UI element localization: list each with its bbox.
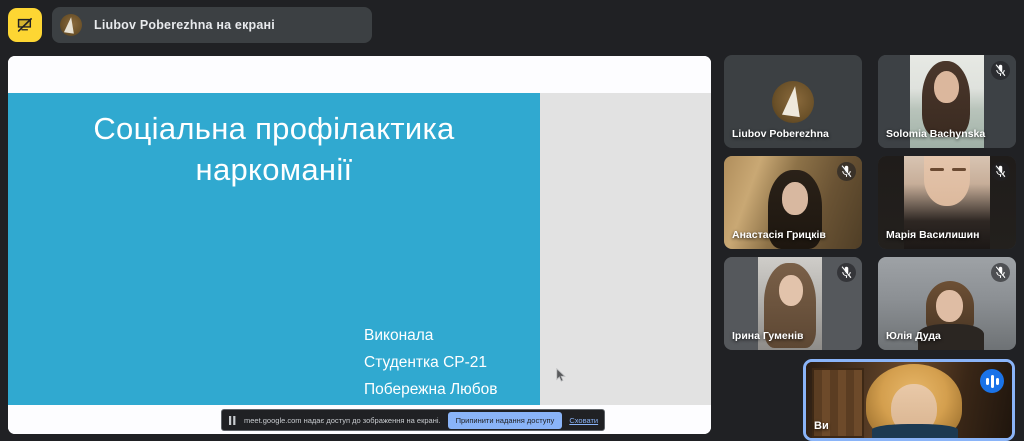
mic-off-icon [837, 263, 856, 282]
slide-credit-line: Побережна Любов [364, 377, 498, 404]
mic-off-icon [991, 263, 1010, 282]
participant-tile-solomia-bachynska[interactable]: Solomia Bachynska [878, 55, 1016, 148]
mic-off-icon [991, 162, 1010, 181]
participant-tile-iryna-humeniv[interactable]: Ірина Гуменів [724, 257, 862, 350]
participant-name: Ірина Гуменів [732, 330, 803, 342]
avatar [772, 81, 814, 123]
stop-sharing-button[interactable]: Припинити надання доступу [448, 412, 563, 429]
mouse-cursor-icon [556, 368, 567, 382]
presenter-label: Liubov Poberezhna на екрані [94, 18, 275, 32]
hide-notification-link[interactable]: Сховати [569, 416, 598, 425]
slide-title: Соціальна профілактика наркоманії [8, 108, 540, 190]
share-notice-message: meet.google.com надає доступ до зображен… [244, 416, 441, 425]
screen-share-notification-bar: meet.google.com надає доступ до зображен… [221, 409, 605, 431]
self-view-tile[interactable]: Ви [803, 359, 1015, 441]
presenter-avatar [60, 14, 82, 36]
participant-name: Liubov Poberezhna [732, 128, 829, 140]
top-bar: Liubov Poberezhna на екрані [0, 0, 1024, 50]
participant-tile-yuliia-duda[interactable]: Юлія Дуда [878, 257, 1016, 350]
participant-tile-anastasiia-hrytskiv[interactable]: Анастасія Грицків [724, 156, 862, 249]
participant-tile-liubov-poberezhna[interactable]: Liubov Poberezhna [724, 55, 862, 148]
participant-grid: Liubov Poberezhna Solomia Bachynska [724, 55, 1016, 346]
participant-name: Анастасія Грицків [732, 229, 826, 241]
stop-screen-share-icon [16, 16, 35, 35]
pause-icon [228, 415, 237, 425]
stop-screen-share-button[interactable] [8, 8, 42, 42]
shared-screen-stage[interactable]: Соціальна профілактика наркоманії Викона… [8, 56, 711, 434]
participant-name: Solomia Bachynska [886, 128, 985, 140]
slide-top-margin [8, 56, 711, 93]
presenter-chip[interactable]: Liubov Poberezhna на екрані [52, 7, 372, 43]
mic-off-icon [837, 162, 856, 181]
slide-credit-line: Студентка СР-21 [364, 350, 498, 377]
meet-app-root: Liubov Poberezhna на екрані Соціальна пр… [0, 0, 1024, 441]
participant-name: Марія Василишин [886, 229, 979, 241]
self-view-shirt [872, 424, 958, 438]
mic-off-icon [991, 61, 1010, 80]
self-view-name: Ви [814, 420, 829, 432]
participant-name: Юлія Дуда [886, 330, 941, 342]
audio-level-icon [980, 369, 1004, 393]
participant-tile-mariia-vasylyshyn[interactable]: Марія Василишин [878, 156, 1016, 249]
slide-credits: Виконала Студентка СР-21 Побережна Любов [364, 323, 498, 403]
slide-credit-line: Виконала [364, 323, 498, 350]
